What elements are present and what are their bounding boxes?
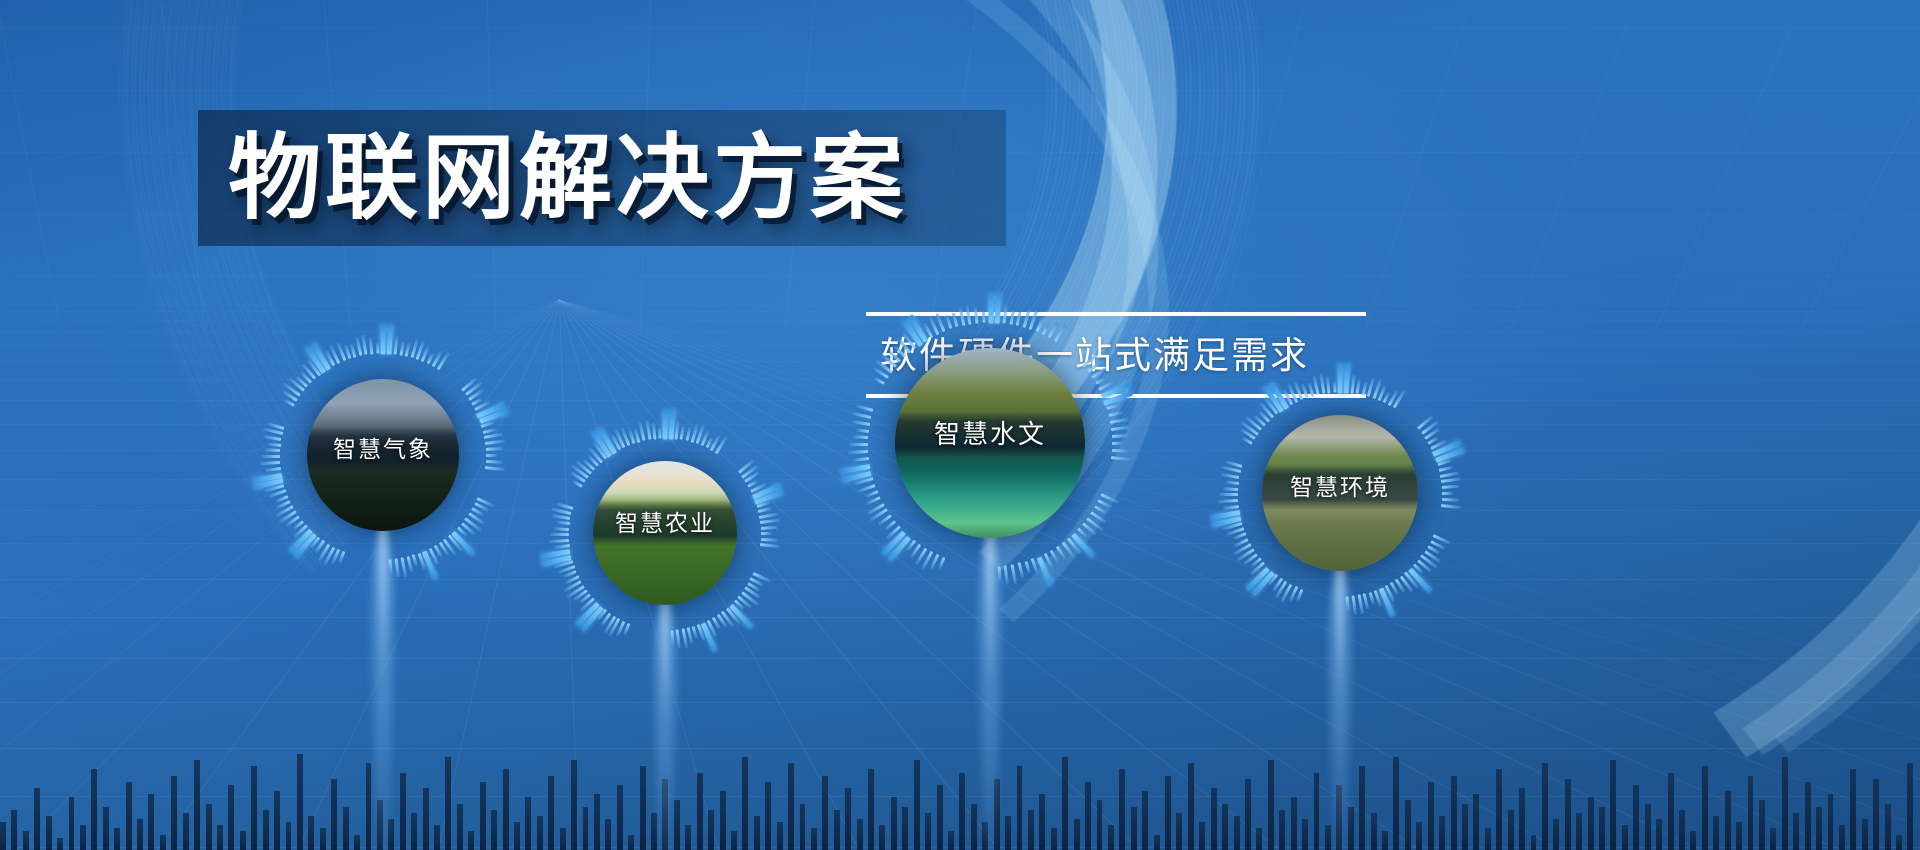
light-beam [367,519,399,850]
ring-tick [369,337,374,354]
ring-tick [399,341,404,355]
ring-tick [670,630,674,645]
page-title: 物联网解决方案 [228,118,988,238]
ring-tick [381,324,386,354]
ring-tick [393,336,398,355]
ring-tick [549,539,569,543]
ring-tick [639,422,646,441]
ring-tick [1018,563,1025,580]
ring-tick [1112,449,1129,453]
ring-tick [856,405,874,413]
node-label-weather: 智慧气象 [307,426,459,472]
iot-solution-banner: 物联网解决方案 软件硬件一站式满足需求 智慧气象智慧农业智慧水文智慧环境 [0,0,1920,850]
ring-tick [1223,487,1238,491]
ring-tick [966,304,972,324]
ring-tick [997,566,1001,581]
ring-tick [663,409,668,439]
ring-tick [945,315,952,329]
ring-tick [1041,324,1049,336]
ring-tick [1221,473,1240,479]
ring-tick [645,420,651,440]
ring-tick [851,412,871,419]
ring-tick [1111,456,1131,461]
ring-tick [938,557,945,569]
ring-tick [552,514,571,520]
ring-tick [486,447,503,451]
ring-tick [680,426,685,440]
ring-tick [1307,382,1314,397]
ring-tick [485,466,505,471]
ring-tick [1219,493,1238,496]
ring-tick [554,527,569,531]
ring-tick [1356,380,1361,394]
ring-tick [1351,595,1356,614]
ring-tick [1223,505,1239,510]
ring-tick [1095,376,1106,384]
ring-tick [486,460,503,464]
ring-tick [849,450,869,454]
ring-tick [1338,363,1343,393]
ring-tick [338,551,345,563]
node-photo-environment[interactable]: 智慧环境 [1262,415,1418,571]
ring-tick [1442,498,1459,502]
ring-tick [400,557,407,577]
ring-tick [1225,480,1238,484]
solution-node-environment[interactable]: 智慧环境 [1194,347,1486,639]
ring-tick [1024,561,1030,573]
ring-tick [1112,434,1129,438]
ring-tick [623,623,630,635]
ring-tick [1111,425,1131,430]
ring-tick [1110,418,1129,424]
ring-tick [1442,492,1453,495]
ring-tick [1296,589,1303,601]
ring-tick [1442,485,1459,489]
ring-tick [874,377,885,385]
ring-tick [1221,466,1241,473]
ring-tick [761,538,778,542]
ring-tick [982,311,986,322]
ring-tick [267,442,280,446]
ring-tick [260,461,280,465]
ring-tick [484,433,503,439]
ring-tick [958,307,965,326]
ring-tick [486,454,497,457]
ring-tick [350,343,357,358]
ring-tick [1016,311,1022,326]
ring-tick [554,544,570,549]
solution-node-agriculture[interactable]: 智慧农业 [525,393,805,673]
ring-tick [387,325,394,355]
ring-tick [761,525,778,529]
ring-tick [652,422,657,439]
ring-tick [1441,504,1461,509]
ring-tick [853,436,868,440]
ring-tick [761,532,772,535]
node-label-hydrology: 智慧水文 [895,411,1085,457]
ring-tick [1011,564,1018,584]
ring-tick [1112,442,1123,445]
ring-tick [658,427,662,438]
ring-tick [556,521,569,525]
ring-tick [405,342,411,357]
ring-tick [265,449,280,453]
light-beam [974,526,1006,850]
ring-tick [758,507,772,513]
ring-tick [851,420,870,426]
ring-tick [1441,478,1461,483]
ring-tick [759,512,778,518]
ring-tick [1344,364,1351,394]
ring-tick [1218,499,1238,503]
ring-tick [988,293,993,323]
ring-tick [952,313,959,328]
ring-tick [1319,374,1325,394]
ring-tick [1333,381,1337,392]
node-photo-weather[interactable]: 智慧气象 [307,379,459,531]
ring-tick [1094,505,1107,514]
ring-tick [412,555,418,567]
ring-tick [362,335,368,355]
ring-tick [1439,466,1453,472]
ring-tick [395,558,400,577]
ring-tick [1108,411,1122,417]
ring-tick [995,294,1002,324]
node-label-agriculture: 智慧农业 [593,500,737,546]
ring-tick [263,435,282,441]
ring-tick [853,457,869,462]
light-beam [1324,559,1356,850]
ring-tick [1350,375,1355,394]
ring-tick [550,533,569,536]
ring-tick [1009,310,1014,324]
ring-tick [485,440,505,445]
ring-tick [1440,471,1459,477]
solution-node-hydrology[interactable]: 智慧水文 [824,277,1156,609]
equalizer-bars [0,650,1920,850]
ring-tick [849,443,868,446]
ring-tick [261,455,280,458]
node-photo-hydrology[interactable]: 智慧水文 [895,348,1085,538]
ring-tick [376,342,380,353]
ring-tick [1003,305,1008,324]
solution-node-weather[interactable]: 智慧气象 [236,308,530,602]
ring-tick [974,307,979,324]
node-photo-agriculture[interactable]: 智慧农业 [593,461,737,605]
ring-tick [265,467,281,472]
ring-tick [855,428,868,432]
ring-tick [760,543,780,548]
ring-tick [483,427,497,433]
node-label-environment: 智慧环境 [1262,464,1418,510]
ring-tick [1326,376,1331,393]
ring-tick [1004,565,1009,584]
ring-tick [760,519,780,524]
